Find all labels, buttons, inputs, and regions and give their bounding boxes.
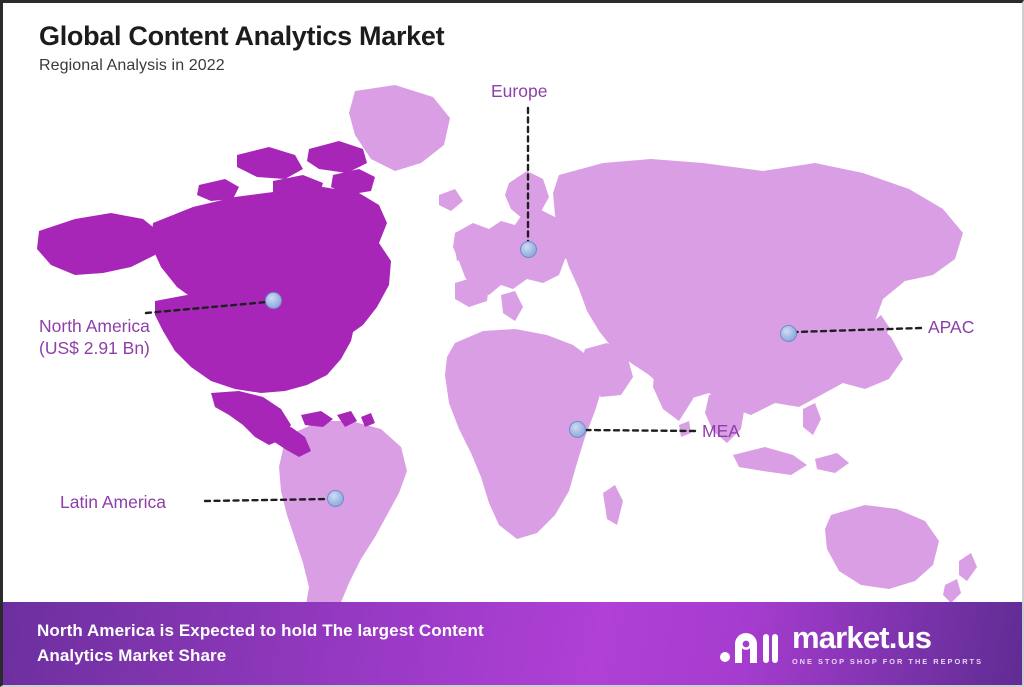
region-label-north-america-name: North America	[39, 316, 150, 336]
map-marker-apac[interactable]	[780, 325, 797, 342]
logo-wordmark: market.us	[792, 622, 983, 653]
map-marker-latin-america[interactable]	[327, 490, 344, 507]
world-map-svg	[3, 63, 1024, 603]
region-label-mea: MEA	[702, 421, 740, 443]
region-label-europe: Europe	[491, 81, 547, 103]
map-highlight-north-america	[37, 141, 391, 457]
footer-banner: North America is Expected to hold The la…	[3, 602, 1024, 685]
map-marker-mea[interactable]	[569, 421, 586, 438]
region-label-latin-america: Latin America	[60, 492, 166, 514]
footer-callout: North America is Expected to hold The la…	[37, 619, 484, 668]
market-us-logo-icon	[719, 622, 781, 666]
logo-text: market.us ONE STOP SHOP FOR THE REPORTS	[792, 622, 983, 666]
footer-callout-line1: North America is Expected to hold The la…	[37, 619, 484, 644]
region-label-apac: APAC	[928, 317, 974, 339]
region-label-latin-america-name: Latin America	[60, 492, 166, 512]
page-title: Global Content Analytics Market	[39, 21, 444, 52]
footer-callout-line2: Analytics Market Share	[37, 644, 484, 669]
brand-logo[interactable]: market.us ONE STOP SHOP FOR THE REPORTS	[719, 622, 1005, 666]
region-label-north-america: North America (US$ 2.91 Bn)	[39, 316, 150, 360]
world-map	[3, 63, 1024, 603]
header: Global Content Analytics Market Regional…	[39, 21, 444, 75]
page-subtitle: Regional Analysis in 2022	[39, 57, 444, 75]
map-marker-north-america[interactable]	[265, 292, 282, 309]
region-label-north-america-value: (US$ 2.91 Bn)	[39, 338, 150, 360]
region-label-mea-name: MEA	[702, 421, 740, 441]
region-label-europe-name: Europe	[491, 81, 547, 101]
map-base-regions	[279, 85, 977, 603]
region-label-apac-name: APAC	[928, 317, 974, 337]
infographic-canvas: Global Content Analytics Market Regional…	[0, 0, 1024, 687]
map-marker-europe[interactable]	[520, 241, 537, 258]
logo-tagline: ONE STOP SHOP FOR THE REPORTS	[792, 657, 983, 666]
